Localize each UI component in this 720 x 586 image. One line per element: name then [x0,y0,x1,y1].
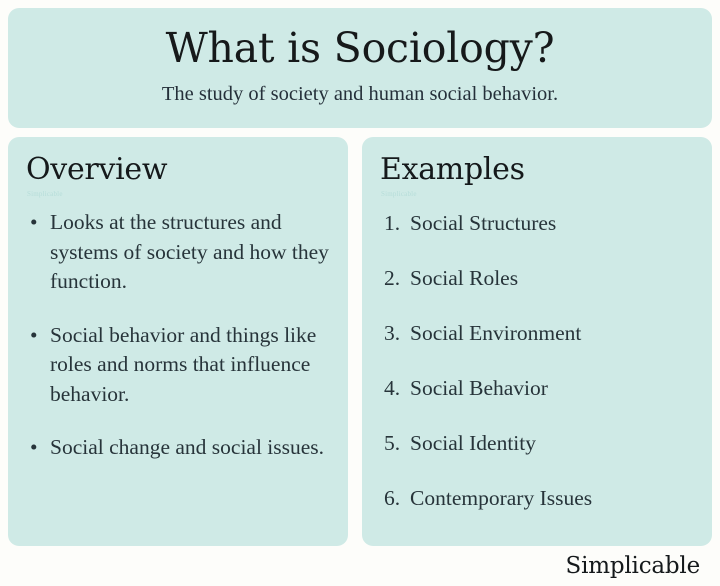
list-item-label: Social Behavior [410,374,548,402]
page-subtitle: The study of society and human social be… [162,81,558,107]
overview-watermark: Simplicable [27,190,334,199]
list-item-number: 3. [384,319,410,347]
examples-list: 1. Social Structures 2. Social Roles 3. … [376,209,698,512]
list-item-number: 5. [384,429,410,457]
list-item: • Social change and social issues. [28,433,334,463]
bullet-icon: • [30,321,38,351]
list-item-number: 6. [384,484,410,512]
list-item-number: 4. [384,374,410,402]
content-columns: Overview Simplicable • Looks at the stru… [8,137,712,546]
page-title: What is Sociology? [166,23,555,73]
list-item-label: Looks at the structures and systems of s… [50,210,329,293]
list-item: 1. Social Structures [384,209,698,237]
examples-card: Examples Simplicable 1. Social Structure… [362,137,712,546]
list-item-label: Social behavior and things like roles an… [50,323,316,406]
list-item-label: Social Roles [410,264,518,292]
overview-heading: Overview [26,151,334,189]
footer: Simplicable [8,546,712,585]
examples-watermark: Simplicable [381,190,698,199]
list-item-label: Social Identity [410,429,536,457]
list-item: • Looks at the structures and systems of… [28,208,334,297]
examples-heading: Examples [380,151,698,189]
list-item-label: Social change and social issues. [50,435,324,459]
list-item: • Social behavior and things like roles … [28,321,334,410]
brand-wordmark: Simplicable [566,552,700,580]
bullet-icon: • [30,433,38,463]
list-item-number: 1. [384,209,410,237]
list-item: 3. Social Environment [384,319,698,347]
list-item: 2. Social Roles [384,264,698,292]
list-item-label: Contemporary Issues [410,484,592,512]
list-item: 5. Social Identity [384,429,698,457]
list-item-label: Social Structures [410,209,556,237]
list-item: 4. Social Behavior [384,374,698,402]
overview-list: • Looks at the structures and systems of… [22,208,334,463]
list-item-label: Social Environment [410,319,581,347]
header-card: What is Sociology? The study of society … [8,8,712,128]
overview-card: Overview Simplicable • Looks at the stru… [8,137,348,546]
list-item-number: 2. [384,264,410,292]
infographic: What is Sociology? The study of society … [0,0,720,586]
list-item: 6. Contemporary Issues [384,484,698,512]
bullet-icon: • [30,208,38,238]
